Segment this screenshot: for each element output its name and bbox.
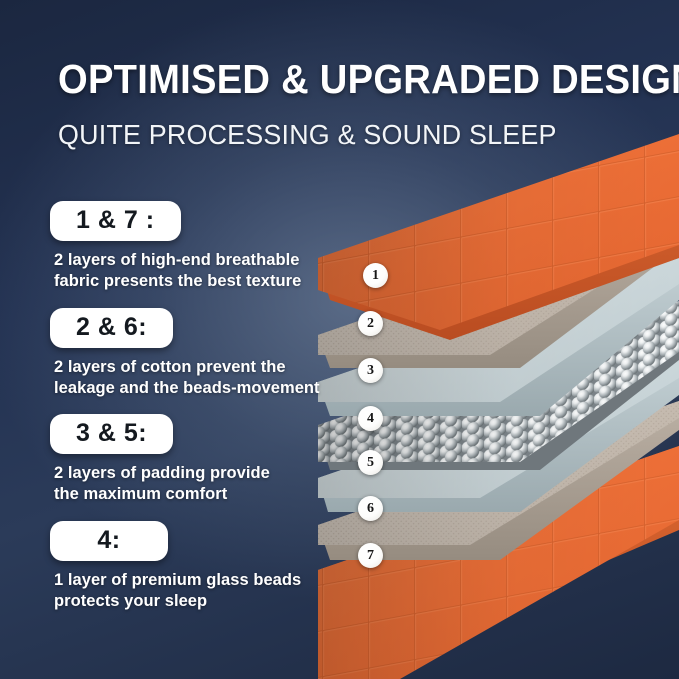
infographic-root: OPTIMISED & UPGRADED DESIGN QUITE PROCES… [0, 0, 679, 679]
callout-chip-3: 3 & 5: [50, 414, 173, 454]
callout-description-1: 2 layers of high-end breathable fabric p… [54, 250, 340, 291]
callout-description-4: 1 layer of premium glass beads protects … [54, 570, 340, 611]
callout-chip-1: 1 & 7 : [50, 201, 181, 241]
callout-layers-3-and-5: 3 & 5: 2 layers of padding provide the m… [50, 414, 340, 504]
layer-badge-1[interactable]: 1 [363, 263, 388, 288]
callout-chip-2: 2 & 6: [50, 308, 173, 348]
layer-badge-7[interactable]: 7 [358, 543, 383, 568]
callout-chip-4: 4: [50, 521, 168, 561]
layer-badge-5[interactable]: 5 [358, 450, 383, 475]
callout-description-3: 2 layers of padding provide the maximum … [54, 463, 340, 504]
layer-badge-4[interactable]: 4 [358, 406, 383, 431]
callout-description-2: 2 layers of cotton prevent the leakage a… [54, 357, 340, 398]
layer-badge-6[interactable]: 6 [358, 496, 383, 521]
callout-layer-4: 4: 1 layer of premium glass beads protec… [50, 521, 340, 611]
layer-badge-3[interactable]: 3 [358, 358, 383, 383]
callout-layers-2-and-6: 2 & 6: 2 layers of cotton prevent the le… [50, 308, 340, 398]
callout-layers-1-and-7: 1 & 7 : 2 layers of high-end breathable … [50, 201, 340, 291]
layer-badge-2[interactable]: 2 [358, 311, 383, 336]
